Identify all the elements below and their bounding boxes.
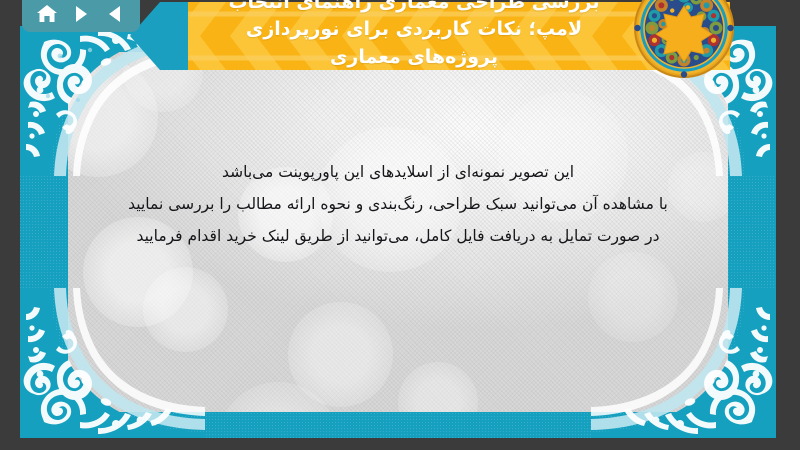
body-line: در صورت تمایل به دریافت فایل کامل، می‌تو…: [122, 221, 674, 253]
bokeh-circle: [398, 362, 478, 412]
slide-body-text: این تصویر نمونه‌ای از اسلایدهای این پاور…: [122, 157, 674, 252]
slide-title: بررسی طراحی معماری راهنمای انتخاب لامپ؛ …: [188, 0, 640, 86]
body-line: این تصویر نمونه‌ای از اسلایدهای این پاور…: [122, 157, 674, 189]
bokeh-circle: [668, 152, 728, 222]
title-line: پروژه‌های معماری: [330, 44, 498, 72]
bokeh-circle: [588, 252, 678, 342]
persian-medallion-ornament: [632, 0, 736, 80]
title-line: بررسی طراحی معماری راهنمای انتخاب: [228, 0, 599, 16]
body-line: با مشاهده آن می‌توانید سبک طراحی، رنگ‌بن…: [122, 189, 674, 221]
bokeh-circle: [218, 382, 338, 412]
slide-title-banner: بررسی طراحی معماری راهنمای انتخاب لامپ؛ …: [130, 0, 730, 86]
slide-navigation-bar[interactable]: [22, 0, 140, 32]
bokeh-circle: [288, 302, 393, 407]
bokeh-circle: [143, 267, 228, 352]
home-icon: [36, 4, 58, 24]
slide-viewer: این تصویر نمونه‌ای از اسلایدهای این پاور…: [0, 0, 800, 450]
slide-canvas: این تصویر نمونه‌ای از اسلایدهای این پاور…: [20, 26, 776, 438]
triangle-right-icon: [71, 4, 91, 24]
slide-content-panel: این تصویر نمونه‌ای از اسلایدهای این پاور…: [68, 52, 728, 412]
triangle-left-icon: [105, 4, 125, 24]
home-button[interactable]: [34, 2, 60, 26]
previous-slide-button[interactable]: [102, 2, 128, 26]
title-line: لامپ؛ نکات کاربردی برای نورپردازی: [246, 16, 582, 44]
next-slide-button[interactable]: [68, 2, 94, 26]
